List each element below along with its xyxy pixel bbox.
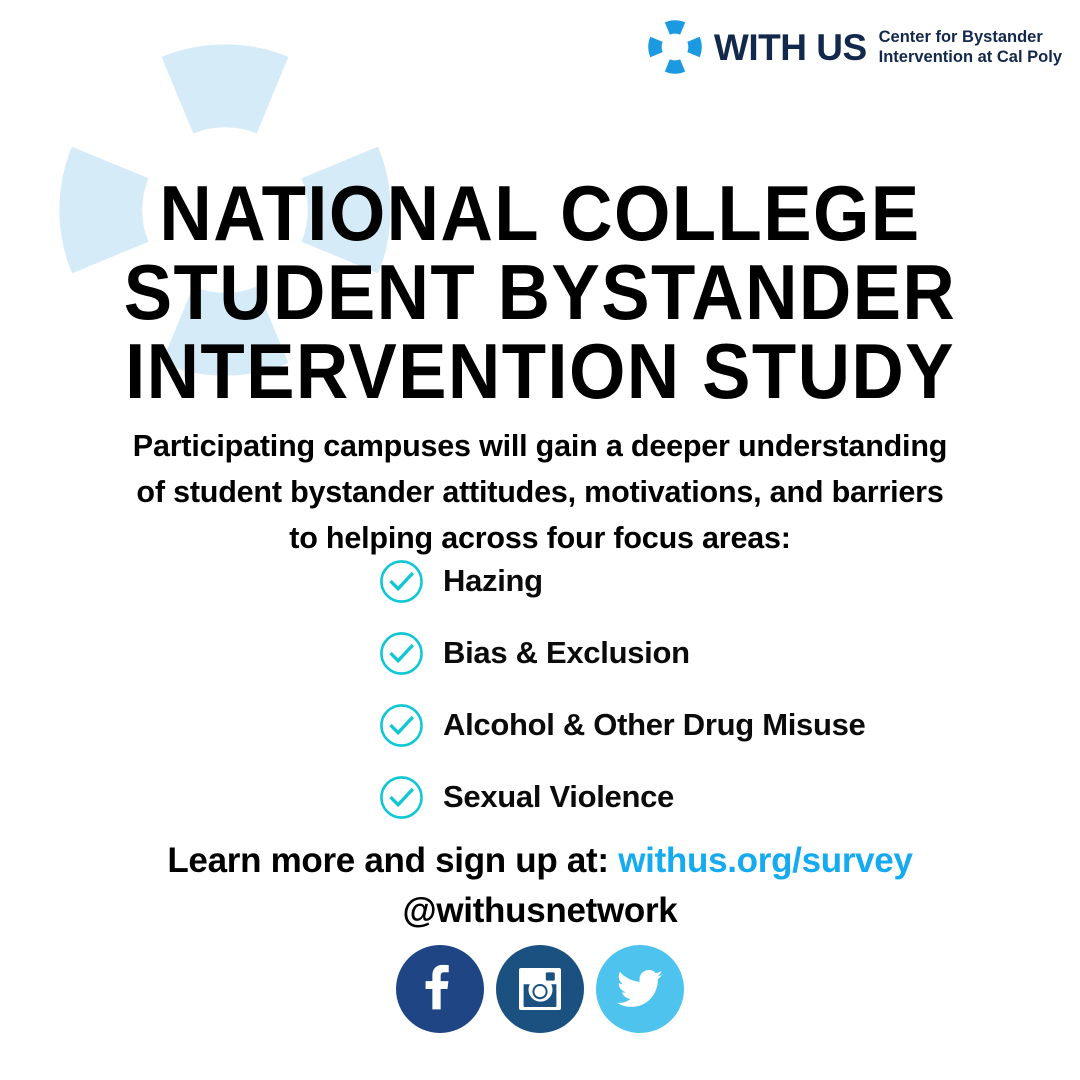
instagram-icon: [515, 964, 565, 1014]
brand-tagline-line2: Intervention at Cal Poly: [879, 48, 1062, 66]
social-handle: @withusnetwork: [0, 886, 1080, 936]
lead-line-1: Participating campuses will gain a deepe…: [80, 423, 1000, 469]
brand-tagline-line1: Center for Bystander: [879, 28, 1043, 46]
check-circle-icon: [378, 558, 425, 605]
survey-link[interactable]: withus.org/survey: [618, 841, 912, 880]
facebook-icon: [414, 963, 466, 1015]
list-item: Hazing: [378, 545, 1018, 617]
page-title-line2: STUDENT BYSTANDER: [38, 253, 1042, 332]
brand-logo-lockup[interactable]: WITH US Center for Bystander Interventio…: [646, 18, 1062, 76]
social-links: [0, 945, 1080, 1033]
lead-paragraph: Participating campuses will gain a deepe…: [80, 423, 1000, 562]
cta-prompt: Learn more and sign up at:: [167, 841, 608, 880]
list-item-label: Sexual Violence: [443, 779, 674, 815]
call-to-action: Learn more and sign up at: withus.org/su…: [0, 836, 1080, 937]
facebook-link[interactable]: [396, 945, 484, 1033]
focus-areas-list: Hazing Bias & Exclusion Alcohol & Other …: [378, 545, 1018, 833]
twitter-icon: [614, 963, 666, 1015]
page-title: NATIONAL COLLEGE STUDENT BYSTANDER INTER…: [38, 174, 1042, 410]
twitter-link[interactable]: [596, 945, 684, 1033]
list-item: Sexual Violence: [378, 761, 1018, 833]
brand-tagline: Center for Bystander Intervention at Cal…: [877, 27, 1062, 67]
life-ring-logo-icon: [646, 18, 704, 76]
list-item: Alcohol & Other Drug Misuse: [378, 689, 1018, 761]
check-circle-icon: [378, 702, 425, 749]
poster-canvas: WITH US Center for Bystander Interventio…: [0, 0, 1080, 1080]
page-title-line3: INTERVENTION STUDY: [38, 332, 1042, 411]
list-item-label: Bias & Exclusion: [443, 635, 690, 671]
brand-wordmark: WITH US: [714, 29, 867, 66]
list-item-label: Hazing: [443, 563, 543, 599]
cta-signup-line: Learn more and sign up at: withus.org/su…: [0, 836, 1080, 886]
lead-line-2: of student bystander attitudes, motivati…: [80, 469, 1000, 515]
page-title-line1: NATIONAL COLLEGE: [38, 174, 1042, 253]
check-circle-icon: [378, 630, 425, 677]
instagram-link[interactable]: [496, 945, 584, 1033]
list-item: Bias & Exclusion: [378, 617, 1018, 689]
list-item-label: Alcohol & Other Drug Misuse: [443, 707, 866, 743]
check-circle-icon: [378, 774, 425, 821]
